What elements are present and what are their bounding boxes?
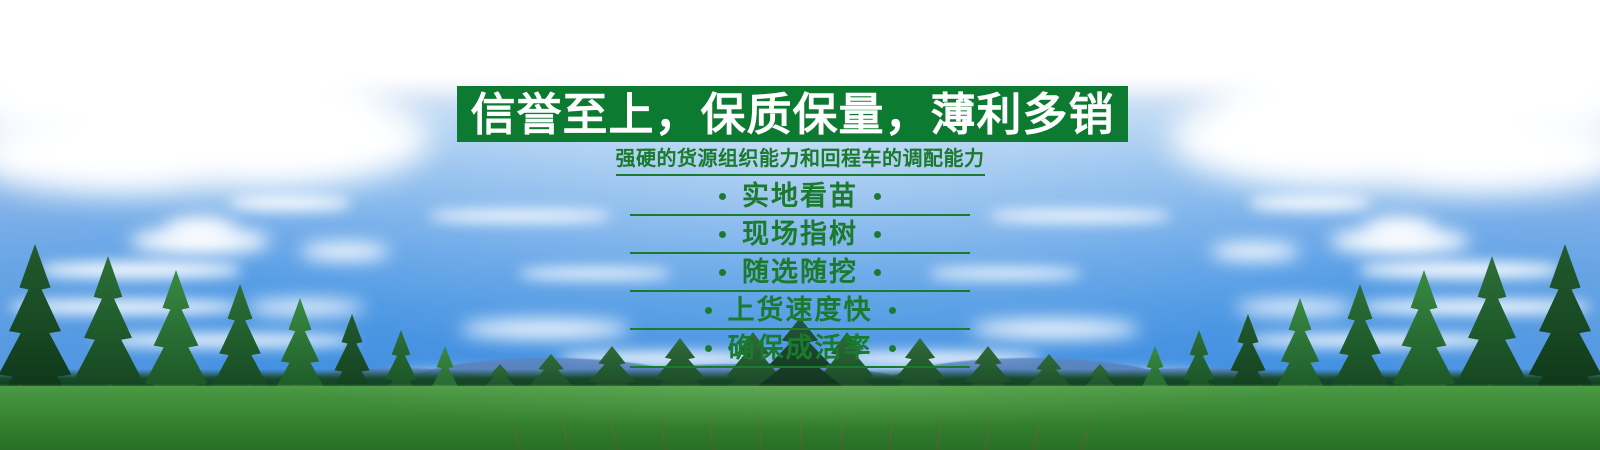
feature-label: 现场指树 — [742, 221, 858, 248]
bullet-dot-icon — [874, 231, 881, 238]
banner-content: 信誉至上，保质保量，薄利多销 强硬的货源组织能力和回程车的调配能力 实地看苗 现… — [0, 0, 1600, 450]
list-item: 实地看苗 — [630, 178, 970, 216]
list-item: 随选随挖 — [630, 254, 970, 292]
bullet-dot-icon — [719, 193, 726, 200]
headline-banner: 信誉至上，保质保量，薄利多销 — [457, 86, 1128, 142]
bullet-dot-icon — [705, 345, 712, 352]
bullet-dot-icon — [874, 269, 881, 276]
bullet-dot-icon — [889, 345, 896, 352]
list-item: 上货速度快 — [630, 292, 970, 330]
subtitle-text: 强硬的货源组织能力和回程车的调配能力 — [616, 147, 985, 176]
list-item: 现场指树 — [630, 216, 970, 254]
bullet-dot-icon — [719, 269, 726, 276]
subtitle-row: 强硬的货源组织能力和回程车的调配能力 — [0, 147, 1600, 176]
bullet-dot-icon — [705, 307, 712, 314]
feature-list: 实地看苗 现场指树 随选随挖 上货速度快 确保成活率 — [630, 178, 970, 368]
feature-label: 随选随挖 — [742, 259, 858, 286]
headline-text: 信誉至上，保质保量，薄利多销 — [470, 92, 1114, 137]
bullet-dot-icon — [889, 307, 896, 314]
feature-label: 实地看苗 — [742, 183, 858, 210]
bullet-dot-icon — [874, 193, 881, 200]
list-item: 确保成活率 — [630, 330, 970, 368]
feature-label: 确保成活率 — [728, 335, 873, 362]
bullet-dot-icon — [719, 231, 726, 238]
promo-banner: 信誉至上，保质保量，薄利多销 强硬的货源组织能力和回程车的调配能力 实地看苗 现… — [0, 0, 1600, 450]
feature-label: 上货速度快 — [728, 297, 873, 324]
